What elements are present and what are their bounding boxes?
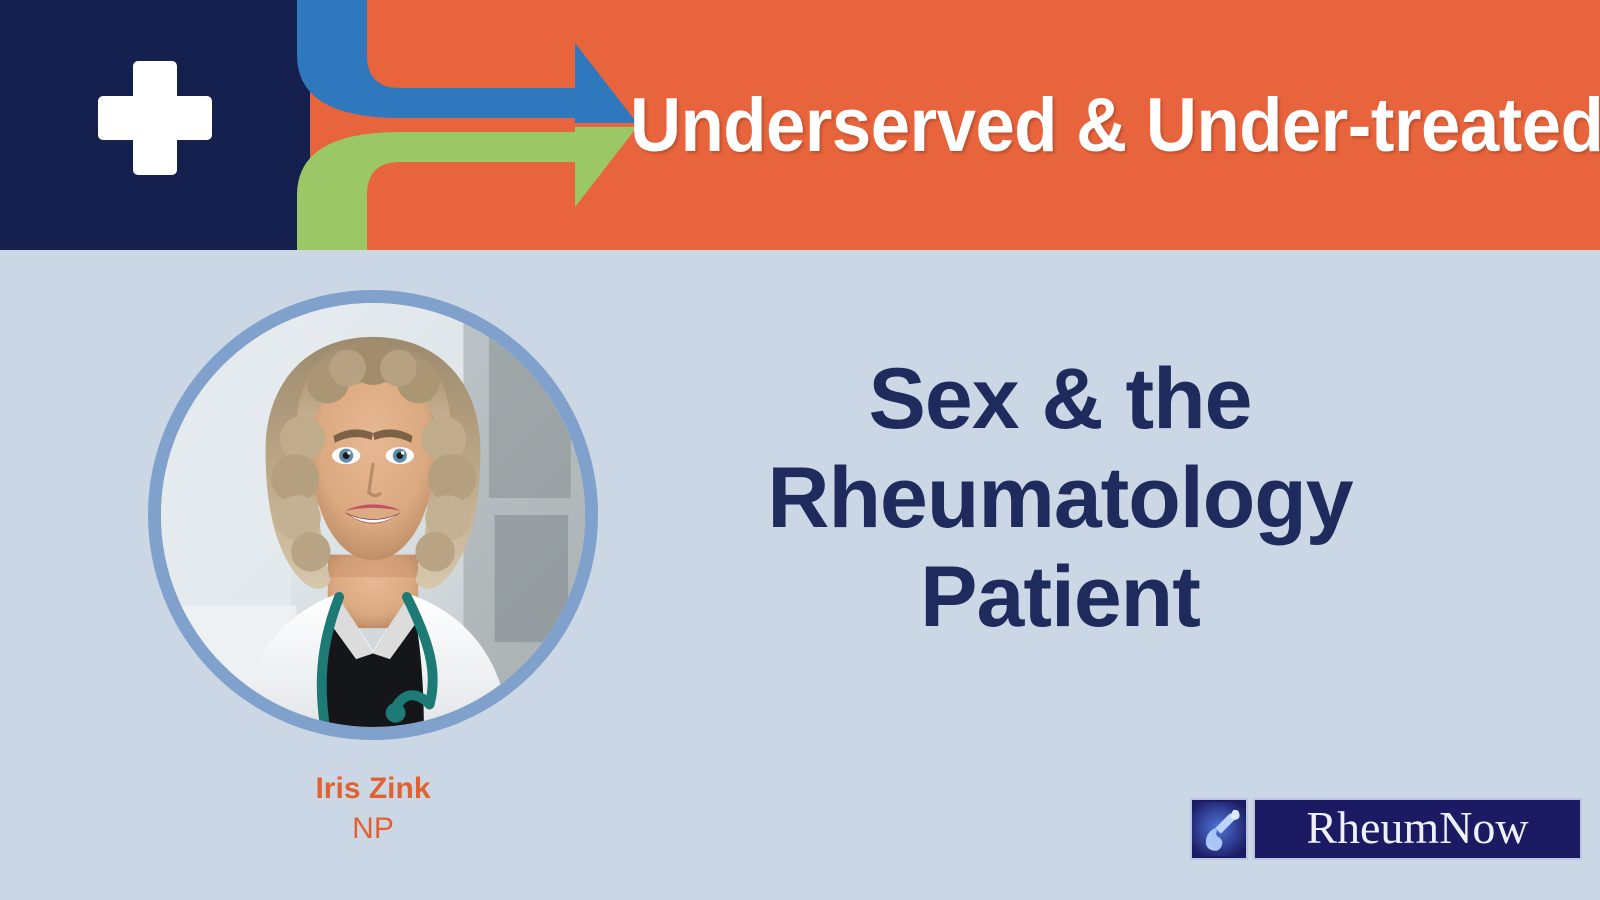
rheumnow-wordmark: RheumNow [1253, 798, 1582, 860]
speaker-name: Iris Zink [148, 772, 598, 806]
page-title-line-2: Rheumatology [700, 449, 1420, 548]
split-arrow-icon [275, 0, 635, 250]
speaker-credentials: NP [148, 812, 598, 846]
joint-bone-icon [1190, 798, 1248, 860]
banner-title: Underserved & Under-treated [630, 0, 1523, 250]
rheumnow-logo[interactable]: RheumNow [1190, 798, 1582, 860]
slide-canvas: Underserved & Under-treated [0, 0, 1600, 900]
page-title-line-3: Patient [700, 548, 1420, 647]
page-title-line-1: Sex & the [700, 350, 1420, 449]
speaker-block: Iris Zink NP [148, 290, 598, 846]
medical-cross-icon [95, 58, 215, 178]
header-banner: Underserved & Under-treated [0, 0, 1600, 250]
avatar [148, 290, 598, 740]
page-title: Sex & the Rheumatology Patient [700, 350, 1420, 647]
